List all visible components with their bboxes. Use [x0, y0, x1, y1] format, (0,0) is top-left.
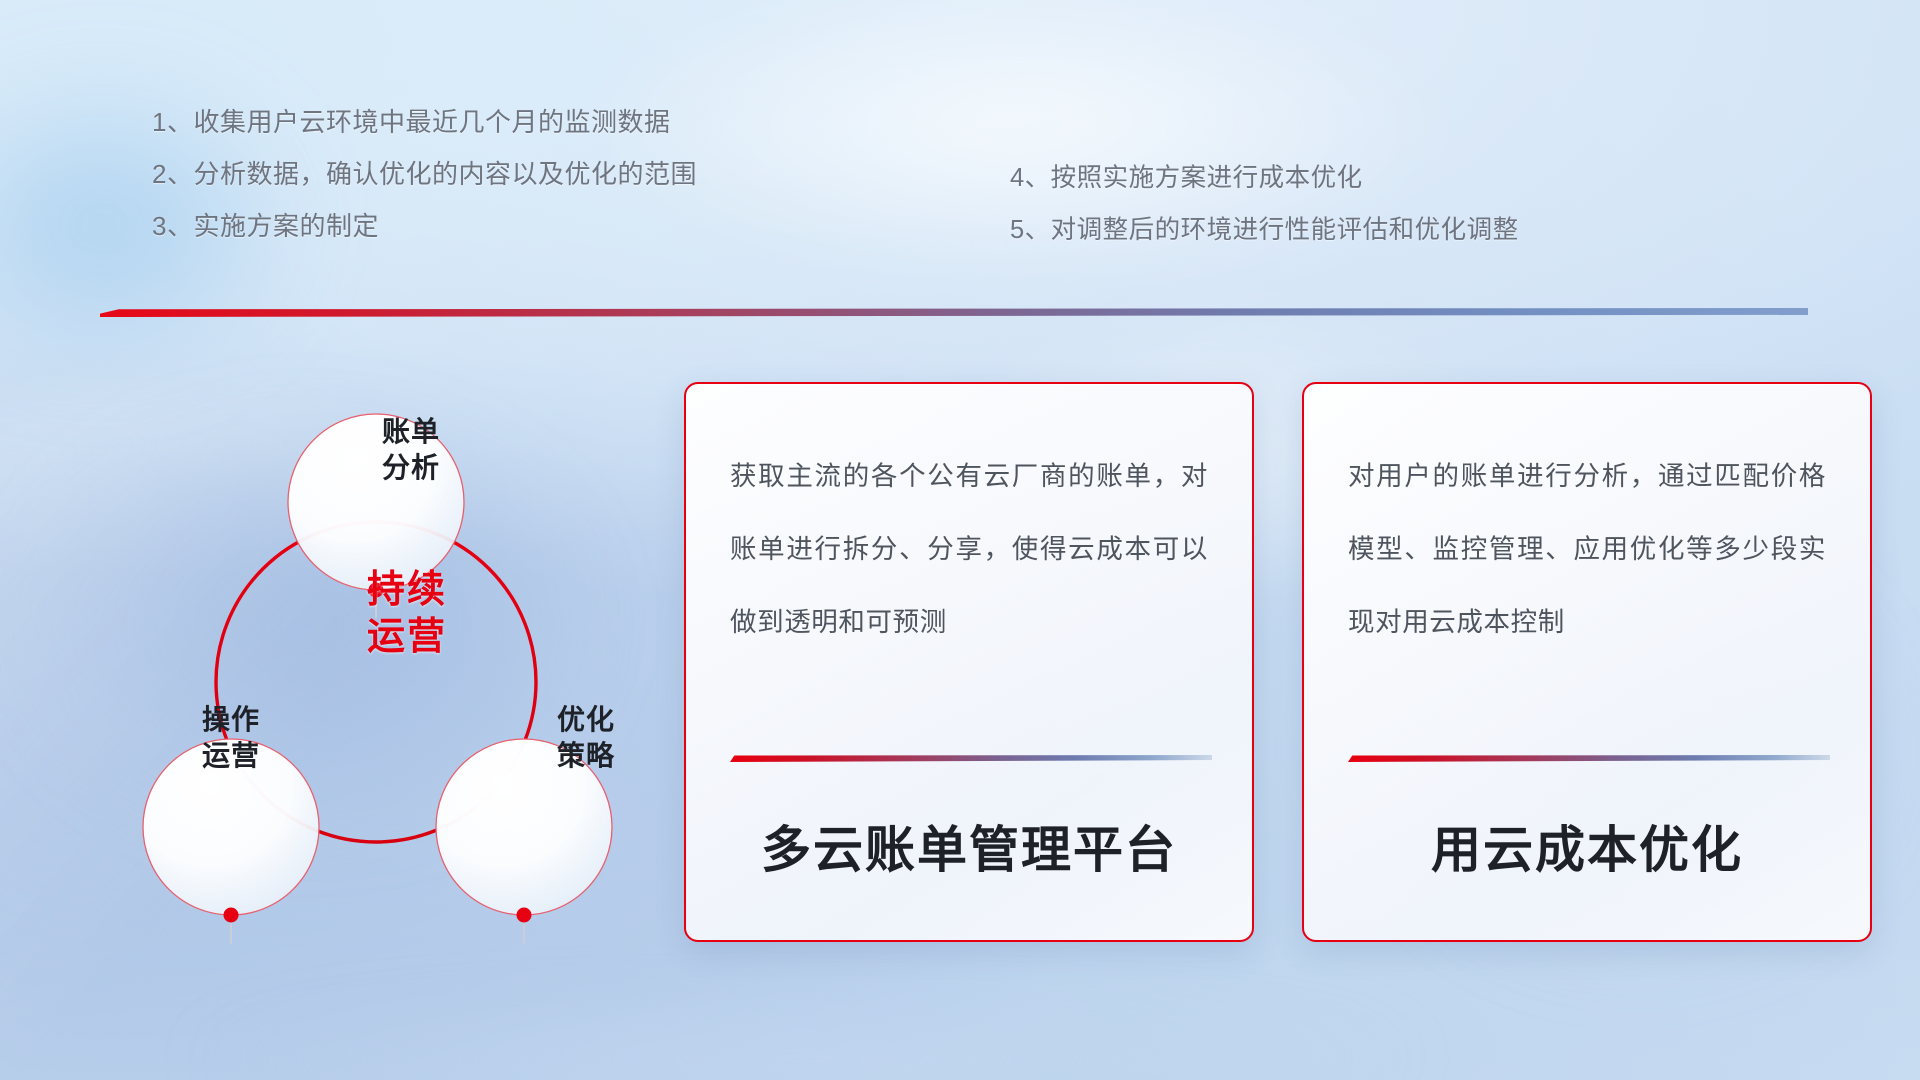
diagram-center-label: 持续 运营 [292, 567, 522, 661]
card-divider [1348, 755, 1830, 762]
card-cloud-cost-optimization[interactable]: 对用户的账单进行分析，通过匹配价格模型、监控管理、应用优化等多少段实现对用云成本… [1302, 382, 1872, 942]
connector-dot-right [517, 908, 532, 923]
continuous-operation-diagram: 账单 分析 操作 运营 优化 策略 持续 运营 [96, 352, 656, 952]
card-body-text: 对用户的账单进行分析，通过匹配价格模型、监控管理、应用优化等多少段实现对用云成本… [1348, 440, 1826, 740]
step-item-1: 1、收集用户云环境中最近几个月的监测数据 [152, 96, 792, 148]
node-label-operations: 操作 运营 [146, 702, 316, 774]
step-item-4: 4、按照实施方案进行成本优化 [1010, 152, 1750, 204]
node-label-bill-analysis: 账单 分析 [326, 414, 496, 486]
steps-list-right: 4、按照实施方案进行成本优化 5、对调整后的环境进行性能评估和优化调整 [1010, 152, 1750, 256]
node-label-strategy: 优化 策略 [501, 702, 671, 774]
connector-dot-left [224, 908, 239, 923]
section-divider [100, 308, 1808, 317]
step-item-2: 2、分析数据，确认优化的内容以及优化的范围 [152, 148, 792, 200]
card-divider [730, 755, 1212, 762]
step-item-5: 5、对调整后的环境进行性能评估和优化调整 [1010, 204, 1750, 256]
card-body-text: 获取主流的各个公有云厂商的账单，对账单进行拆分、分享，使得云成本可以做到透明和可… [730, 440, 1208, 740]
steps-list-left: 1、收集用户云环境中最近几个月的监测数据 2、分析数据，确认优化的内容以及优化的… [152, 96, 792, 252]
step-item-3: 3、实施方案的制定 [152, 200, 792, 252]
card-multicloud-billing[interactable]: 获取主流的各个公有云厂商的账单，对账单进行拆分、分享，使得云成本可以做到透明和可… [684, 382, 1254, 942]
card-title-text: 用云成本优化 [1304, 810, 1870, 882]
card-title-text: 多云账单管理平台 [686, 810, 1252, 882]
slide-content: 1、收集用户云环境中最近几个月的监测数据 2、分析数据，确认优化的内容以及优化的… [0, 0, 1920, 1080]
